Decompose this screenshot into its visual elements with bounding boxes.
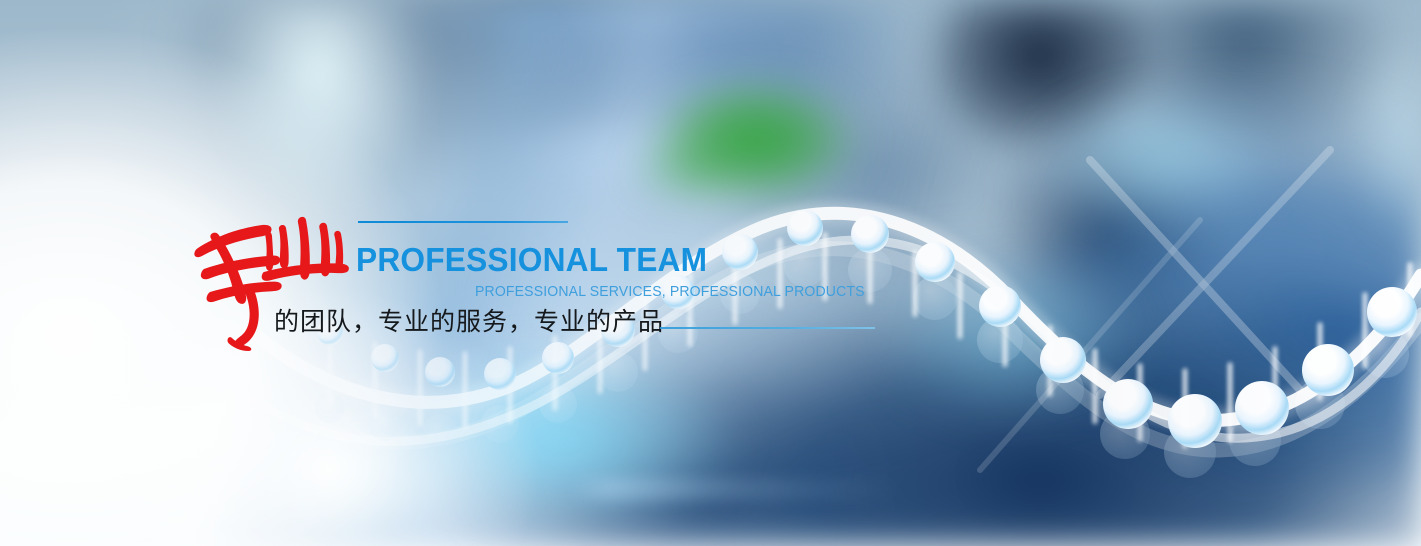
rule-below-heading <box>660 327 875 329</box>
page-subtitle: PROFESSIONAL SERVICES, PROFESSIONAL PROD… <box>475 285 865 300</box>
page-title: PROFESSIONAL TEAM <box>356 243 707 276</box>
helix-curve-back <box>250 249 1421 450</box>
rule-above-heading <box>358 221 568 223</box>
hero-banner: PROFESSIONAL TEAM PROFESSIONAL SERVICES,… <box>0 0 1421 546</box>
page-title-chinese: 的团队，专业的服务，专业的产品 <box>274 307 664 337</box>
background-blurred-text-smear <box>570 478 900 500</box>
helix-diagonal-accents <box>980 150 1330 470</box>
helix-nodes-back <box>315 245 1409 478</box>
